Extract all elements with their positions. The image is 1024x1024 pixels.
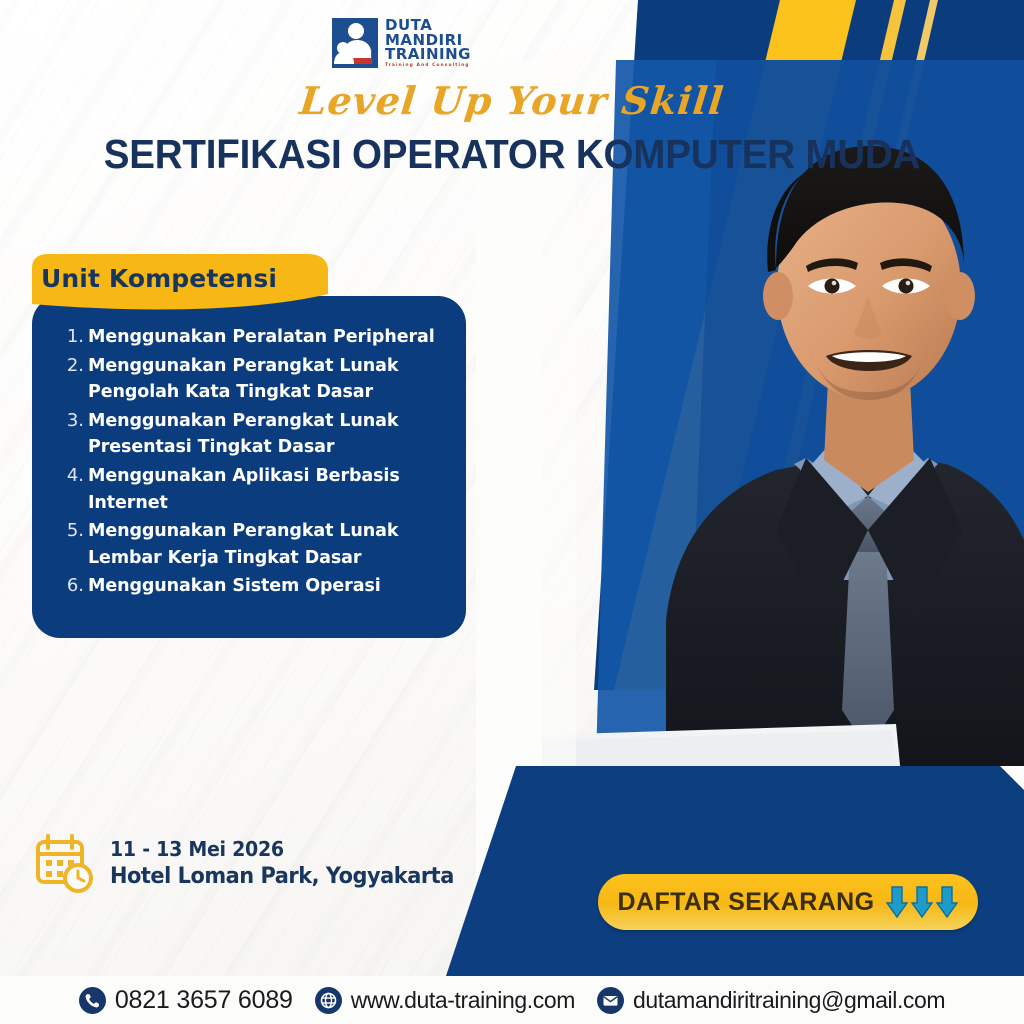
- email-address: dutamandiritraining@gmail.com: [633, 987, 945, 1014]
- contact-email[interactable]: dutamandiritraining@gmail.com: [597, 987, 945, 1014]
- list-item-number: 5.: [62, 518, 84, 545]
- list-item-label: Menggunakan Sistem Operasi: [88, 573, 381, 600]
- event-venue: Hotel Loman Park, Yogyakarta: [110, 864, 454, 889]
- website-url: www.duta-training.com: [351, 987, 575, 1014]
- envelope-icon: [597, 987, 624, 1014]
- phone-icon: [79, 987, 106, 1014]
- arrow-down-icon: [886, 885, 958, 919]
- cta-label: DAFTAR SEKARANG: [618, 888, 875, 917]
- list-item-number: 3.: [62, 408, 84, 435]
- logo-line-3: TRAINING: [385, 47, 471, 62]
- phone-number: 0821 3657 6089: [115, 986, 293, 1015]
- list-item: 3. Menggunakan Perangkat Lunak Presentas…: [62, 408, 442, 461]
- daftar-sekarang-button[interactable]: DAFTAR SEKARANG: [598, 874, 978, 930]
- list-item-label: Menggunakan Peralatan Peripheral: [88, 324, 435, 351]
- list-item: 4. Menggunakan Aplikasi Berbasis Interne…: [62, 463, 442, 516]
- list-item-label: Menggunakan Aplikasi Berbasis Internet: [88, 463, 442, 516]
- event-date: 11 - 13 Mei 2026: [110, 837, 454, 861]
- script-tagline: Level Up Your Skill: [0, 78, 1024, 123]
- contact-footer: 0821 3657 6089 www.duta-training.com: [0, 976, 1024, 1024]
- contact-website[interactable]: www.duta-training.com: [315, 987, 575, 1014]
- competency-list: 1. Menggunakan Peralatan Peripheral 2. M…: [62, 324, 442, 602]
- list-item: 2. Menggunakan Perangkat Lunak Pengolah …: [62, 353, 442, 406]
- event-details: 11 - 13 Mei 2026 Hotel Loman Park, Yogya…: [34, 832, 472, 894]
- people-logo-icon: [332, 18, 378, 68]
- brand-logo: DUTA MANDIRI TRAINING Training And Consu…: [332, 12, 482, 74]
- list-item: 1. Menggunakan Peralatan Peripheral: [62, 324, 442, 351]
- list-item-label: Menggunakan Perangkat Lunak Lembar Kerja…: [88, 518, 442, 571]
- list-item-label: Menggunakan Perangkat Lunak Pengolah Kat…: [88, 353, 442, 406]
- poster: DUTA MANDIRI TRAINING Training And Consu…: [0, 0, 1024, 1024]
- list-item-number: 2.: [62, 353, 84, 380]
- list-item-number: 6.: [62, 573, 84, 600]
- list-item-number: 4.: [62, 463, 84, 490]
- contact-phone[interactable]: 0821 3657 6089: [79, 986, 293, 1015]
- list-item: 6. Menggunakan Sistem Operasi: [62, 573, 442, 600]
- calendar-clock-icon: [34, 832, 96, 894]
- globe-icon: [315, 987, 342, 1014]
- unit-kompetensi-label: Unit Kompetensi: [41, 264, 277, 293]
- list-item-label: Menggunakan Perangkat Lunak Presentasi T…: [88, 408, 442, 461]
- list-item: 5. Menggunakan Perangkat Lunak Lembar Ke…: [62, 518, 442, 571]
- logo-tagline: Training And Consulting: [385, 64, 471, 68]
- page-title: SERTIFIKASI OPERATOR KOMPUTER MUDA: [31, 131, 994, 178]
- list-item-number: 1.: [62, 324, 84, 351]
